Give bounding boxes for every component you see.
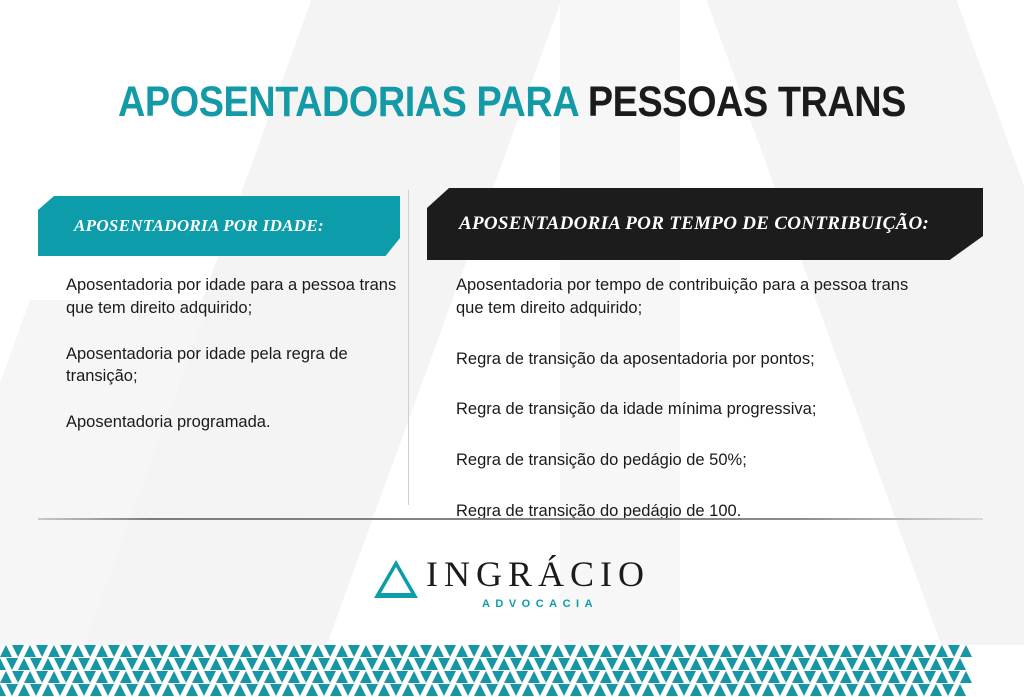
pattern-triangle-icon (324, 671, 336, 683)
pattern-triangle-icon (690, 684, 702, 696)
pattern-triangle-icon (552, 671, 564, 683)
page-title: APOSENTADORIAS PARA PESSOAS TRANS (61, 78, 962, 127)
pattern-triangle-icon (888, 671, 900, 683)
pattern-triangle-icon (48, 671, 60, 683)
pattern-triangle-icon (642, 684, 654, 696)
pattern-triangle-icon (762, 684, 774, 696)
pattern-triangle-icon (312, 671, 324, 683)
pattern-triangle-icon (300, 645, 312, 657)
pattern-triangle-icon (342, 684, 354, 696)
pattern-triangle-icon (216, 645, 228, 657)
pattern-triangle-icon (618, 684, 630, 696)
pattern-triangle-icon (858, 684, 870, 696)
pattern-triangle-icon (258, 658, 270, 670)
list-item: Aposentadoria por idade pela regra de tr… (66, 343, 411, 389)
pattern-triangle-icon (810, 684, 822, 696)
pattern-triangle-icon (204, 645, 216, 657)
column-header-idade: APOSENTADORIA POR IDADE: (38, 196, 400, 256)
pattern-triangle-icon (306, 684, 318, 696)
pattern-triangle-icon (102, 658, 114, 670)
pattern-triangle-icon (90, 684, 102, 696)
list-item: Regra de transição da aposentadoria por … (456, 348, 926, 371)
pattern-triangle-icon (102, 684, 114, 696)
pattern-triangle-icon (762, 658, 774, 670)
pattern-triangle-icon (564, 671, 576, 683)
pattern-triangle-icon (528, 645, 540, 657)
pattern-triangle-icon (204, 671, 216, 683)
pattern-triangle-icon (228, 671, 240, 683)
pattern-triangle-icon (432, 645, 444, 657)
pattern-triangle-icon (774, 684, 786, 696)
pattern-triangle-icon (948, 645, 960, 657)
pattern-triangle-icon (672, 645, 684, 657)
pattern-triangle-icon (840, 645, 852, 657)
pattern-row (0, 684, 1018, 697)
pattern-triangle-icon (138, 684, 150, 696)
pattern-triangle-icon (936, 645, 948, 657)
pattern-triangle-icon (780, 645, 792, 657)
pattern-triangle-icon (654, 658, 666, 670)
pattern-triangle-icon (270, 658, 282, 670)
pattern-triangle-icon (666, 684, 678, 696)
pattern-triangle-icon (342, 658, 354, 670)
pattern-triangle-icon (420, 645, 432, 657)
pattern-triangle-icon (66, 658, 78, 670)
pattern-triangle-icon (522, 684, 534, 696)
pattern-triangle-icon (726, 658, 738, 670)
pattern-triangle-icon (240, 671, 252, 683)
pattern-triangle-icon (438, 658, 450, 670)
pattern-triangle-icon (174, 658, 186, 670)
pattern-triangle-icon (846, 658, 858, 670)
pattern-row (0, 671, 1024, 684)
pattern-triangle-icon (36, 671, 48, 683)
pattern-triangle-icon (624, 671, 636, 683)
pattern-triangle-icon (528, 671, 540, 683)
pattern-triangle-icon (276, 671, 288, 683)
pattern-triangle-icon (114, 658, 126, 670)
pattern-triangle-icon (270, 684, 282, 696)
pattern-triangle-icon (24, 645, 36, 657)
pattern-triangle-icon (738, 684, 750, 696)
pattern-triangle-icon (714, 658, 726, 670)
pattern-triangle-icon (516, 645, 528, 657)
pattern-triangle-icon (186, 684, 198, 696)
pattern-triangle-icon (426, 658, 438, 670)
pattern-triangle-icon (582, 658, 594, 670)
pattern-triangle-icon (0, 671, 12, 683)
pattern-triangle-icon (870, 658, 882, 670)
pattern-triangle-icon (816, 671, 828, 683)
pattern-triangle-icon (54, 684, 66, 696)
pattern-triangle-icon (210, 658, 222, 670)
pattern-triangle-icon (366, 658, 378, 670)
pattern-triangle-icon (312, 645, 324, 657)
pattern-triangle-icon (186, 658, 198, 670)
pattern-triangle-icon (534, 684, 546, 696)
pattern-triangle-icon (462, 658, 474, 670)
pattern-triangle-icon (582, 684, 594, 696)
pattern-triangle-icon (912, 645, 924, 657)
pattern-triangle-icon (144, 671, 156, 683)
pattern-triangle-icon (168, 671, 180, 683)
pattern-triangle-icon (384, 671, 396, 683)
pattern-triangle-icon (354, 684, 366, 696)
pattern-triangle-icon (606, 658, 618, 670)
pattern-triangle-icon (822, 658, 834, 670)
pattern-triangle-icon (504, 645, 516, 657)
pattern-triangle-icon (768, 671, 780, 683)
footer-pattern-band (0, 645, 1024, 697)
pattern-triangle-icon (168, 645, 180, 657)
pattern-triangle-icon (702, 684, 714, 696)
pattern-triangle-icon (594, 658, 606, 670)
pattern-triangle-icon (396, 671, 408, 683)
pattern-triangle-icon (60, 671, 72, 683)
pattern-triangle-icon (708, 645, 720, 657)
pattern-triangle-icon (630, 684, 642, 696)
pattern-triangle-icon (72, 645, 84, 657)
column-header-tempo-contribuicao-label: APOSENTADORIA POR TEMPO DE CONTRIBUIÇÃO: (459, 213, 929, 235)
pattern-triangle-icon (546, 684, 558, 696)
pattern-triangle-icon (72, 671, 84, 683)
pattern-triangle-icon (648, 645, 660, 657)
pattern-triangle-icon (42, 684, 54, 696)
pattern-triangle-icon (348, 671, 360, 683)
pattern-triangle-icon (192, 671, 204, 683)
pattern-triangle-icon (954, 658, 966, 670)
pattern-triangle-icon (306, 658, 318, 670)
pattern-triangle-icon (138, 658, 150, 670)
pattern-triangle-icon (924, 671, 936, 683)
brand-name: INGRÁCIO (426, 556, 650, 594)
column-header-idade-label: APOSENTADORIA POR IDADE: (74, 216, 324, 236)
pattern-triangle-icon (906, 658, 918, 670)
pattern-triangle-icon (396, 645, 408, 657)
pattern-triangle-icon (504, 671, 516, 683)
pattern-triangle-icon (642, 658, 654, 670)
pattern-triangle-icon (696, 645, 708, 657)
pattern-triangle-icon (750, 658, 762, 670)
pattern-triangle-icon (600, 645, 612, 657)
pattern-triangle-icon (336, 671, 348, 683)
pattern-triangle-icon (870, 684, 882, 696)
brand-tagline: ADVOCACIA (430, 598, 650, 610)
pattern-triangle-icon (468, 671, 480, 683)
pattern-triangle-icon (660, 671, 672, 683)
pattern-triangle-icon (780, 671, 792, 683)
pattern-triangle-icon (852, 671, 864, 683)
list-item: Aposentadoria por idade para a pessoa tr… (66, 274, 411, 320)
pattern-triangle-icon (552, 645, 564, 657)
pattern-triangle-icon (222, 658, 234, 670)
pattern-triangle-icon (756, 671, 768, 683)
page-title-teal: APOSENTADORIAS PARA (118, 78, 588, 126)
pattern-triangle-icon (744, 671, 756, 683)
triangle-outline-icon (374, 560, 418, 598)
pattern-triangle-icon (300, 671, 312, 683)
pattern-triangle-icon (720, 645, 732, 657)
pattern-triangle-icon (594, 684, 606, 696)
pattern-triangle-icon (510, 684, 522, 696)
pattern-triangle-icon (450, 684, 462, 696)
pattern-triangle-icon (612, 645, 624, 657)
pattern-triangle-icon (210, 684, 222, 696)
pattern-triangle-icon (60, 645, 72, 657)
pattern-triangle-icon (894, 658, 906, 670)
pattern-triangle-icon (336, 645, 348, 657)
pattern-triangle-icon (96, 645, 108, 657)
pattern-triangle-icon (30, 684, 42, 696)
infographic-canvas: APOSENTADORIAS PARA PESSOAS TRANS APOSEN… (0, 0, 1024, 697)
pattern-triangle-icon (900, 645, 912, 657)
pattern-triangle-icon (708, 671, 720, 683)
pattern-triangle-icon (408, 645, 420, 657)
pattern-triangle-icon (576, 645, 588, 657)
list-item: Regra de transição da idade mínima progr… (456, 398, 926, 421)
pattern-triangle-icon (822, 684, 834, 696)
pattern-triangle-icon (492, 671, 504, 683)
pattern-triangle-icon (462, 684, 474, 696)
pattern-triangle-icon (402, 684, 414, 696)
pattern-triangle-icon (804, 671, 816, 683)
pattern-triangle-icon (948, 671, 960, 683)
pattern-triangle-icon (258, 684, 270, 696)
pattern-triangle-icon (960, 671, 972, 683)
pattern-triangle-icon (360, 645, 372, 657)
pattern-triangle-icon (786, 684, 798, 696)
column-list-tempo-contribuicao: Aposentadoria por tempo de contribuição … (456, 274, 926, 551)
pattern-triangle-icon (492, 645, 504, 657)
pattern-triangle-icon (474, 684, 486, 696)
pattern-triangle-icon (420, 671, 432, 683)
pattern-triangle-icon (384, 645, 396, 657)
pattern-triangle-icon (390, 684, 402, 696)
column-header-tempo-contribuicao: APOSENTADORIA POR TEMPO DE CONTRIBUIÇÃO: (427, 188, 983, 260)
pattern-triangle-icon (834, 684, 846, 696)
pattern-triangle-icon (606, 684, 618, 696)
list-item: Aposentadoria programada. (66, 411, 411, 434)
pattern-triangle-icon (672, 671, 684, 683)
pattern-triangle-icon (684, 671, 696, 683)
pattern-triangle-icon (876, 671, 888, 683)
pattern-triangle-icon (750, 684, 762, 696)
pattern-triangle-icon (282, 684, 294, 696)
pattern-triangle-icon (372, 671, 384, 683)
pattern-triangle-icon (636, 645, 648, 657)
pattern-triangle-icon (810, 658, 822, 670)
pattern-triangle-icon (858, 658, 870, 670)
pattern-triangle-icon (42, 658, 54, 670)
pattern-triangle-icon (378, 658, 390, 670)
pattern-triangle-icon (738, 658, 750, 670)
pattern-triangle-icon (960, 645, 972, 657)
pattern-triangle-icon (264, 645, 276, 657)
pattern-triangle-icon (246, 684, 258, 696)
pattern-triangle-icon (522, 658, 534, 670)
pattern-triangle-icon (912, 671, 924, 683)
pattern-triangle-icon (852, 645, 864, 657)
pattern-triangle-icon (684, 645, 696, 657)
pattern-triangle-icon (366, 684, 378, 696)
pattern-triangle-icon (846, 684, 858, 696)
list-item: Aposentadoria por tempo de contribuição … (456, 274, 926, 320)
pattern-triangle-icon (24, 671, 36, 683)
pattern-triangle-icon (726, 684, 738, 696)
pattern-triangle-icon (696, 671, 708, 683)
pattern-triangle-icon (84, 645, 96, 657)
pattern-triangle-icon (84, 671, 96, 683)
pattern-triangle-icon (900, 671, 912, 683)
pattern-triangle-icon (774, 658, 786, 670)
pattern-triangle-icon (558, 658, 570, 670)
pattern-triangle-icon (66, 684, 78, 696)
pattern-triangle-icon (12, 645, 24, 657)
pattern-triangle-icon (882, 658, 894, 670)
pattern-triangle-icon (18, 684, 30, 696)
pattern-triangle-icon (294, 684, 306, 696)
pattern-triangle-icon (228, 645, 240, 657)
pattern-triangle-icon (666, 658, 678, 670)
pattern-triangle-icon (402, 658, 414, 670)
pattern-triangle-icon (732, 645, 744, 657)
footer-divider (38, 518, 983, 520)
pattern-triangle-icon (756, 645, 768, 657)
pattern-triangle-icon (888, 645, 900, 657)
pattern-triangle-icon (558, 684, 570, 696)
pattern-triangle-icon (510, 658, 522, 670)
pattern-triangle-icon (942, 684, 954, 696)
pattern-triangle-icon (480, 671, 492, 683)
pattern-triangle-icon (882, 684, 894, 696)
pattern-triangle-icon (414, 684, 426, 696)
pattern-triangle-icon (96, 671, 108, 683)
pattern-triangle-icon (540, 645, 552, 657)
pattern-triangle-icon (702, 658, 714, 670)
pattern-triangle-icon (132, 671, 144, 683)
pattern-triangle-icon (276, 645, 288, 657)
pattern-triangle-icon (162, 684, 174, 696)
pattern-triangle-icon (114, 684, 126, 696)
pattern-triangle-icon (540, 671, 552, 683)
pattern-triangle-icon (918, 658, 930, 670)
pattern-triangle-icon (438, 684, 450, 696)
pattern-triangle-icon (390, 658, 402, 670)
pattern-triangle-icon (894, 684, 906, 696)
pattern-triangle-icon (78, 684, 90, 696)
pattern-triangle-icon (564, 645, 576, 657)
pattern-triangle-icon (954, 684, 966, 696)
pattern-triangle-icon (792, 645, 804, 657)
pattern-triangle-icon (816, 645, 828, 657)
pattern-triangle-icon (288, 671, 300, 683)
pattern-triangle-icon (252, 645, 264, 657)
pattern-triangle-icon (486, 684, 498, 696)
pattern-triangle-icon (282, 658, 294, 670)
pattern-triangle-icon (78, 658, 90, 670)
pattern-triangle-icon (798, 658, 810, 670)
pattern-triangle-icon (108, 645, 120, 657)
pattern-triangle-icon (570, 684, 582, 696)
pattern-triangle-icon (600, 671, 612, 683)
pattern-triangle-icon (240, 645, 252, 657)
pattern-triangle-icon (624, 645, 636, 657)
page-title-dark: PESSOAS TRANS (588, 78, 906, 126)
pattern-triangle-icon (48, 645, 60, 657)
pattern-triangle-icon (588, 671, 600, 683)
pattern-triangle-icon (570, 658, 582, 670)
pattern-triangle-icon (192, 645, 204, 657)
pattern-triangle-icon (6, 658, 18, 670)
pattern-triangle-icon (906, 684, 918, 696)
pattern-triangle-icon (804, 645, 816, 657)
pattern-triangle-icon (474, 658, 486, 670)
pattern-row (0, 645, 1024, 658)
pattern-triangle-icon (198, 684, 210, 696)
pattern-triangle-icon (150, 658, 162, 670)
pattern-triangle-icon (444, 645, 456, 657)
pattern-triangle-icon (36, 645, 48, 657)
pattern-triangle-icon (378, 684, 390, 696)
pattern-triangle-icon (660, 645, 672, 657)
pattern-triangle-icon (234, 658, 246, 670)
pattern-triangle-icon (0, 645, 12, 657)
list-item: Regra de transição do pedágio de 50%; (456, 449, 926, 472)
pattern-triangle-icon (648, 671, 660, 683)
pattern-triangle-icon (246, 658, 258, 670)
pattern-triangle-icon (126, 658, 138, 670)
pattern-triangle-icon (90, 658, 102, 670)
pattern-triangle-icon (456, 671, 468, 683)
pattern-triangle-icon (732, 671, 744, 683)
pattern-triangle-icon (864, 671, 876, 683)
pattern-triangle-icon (720, 671, 732, 683)
pattern-triangle-icon (120, 671, 132, 683)
pattern-triangle-icon (630, 658, 642, 670)
pattern-triangle-icon (108, 671, 120, 683)
pattern-triangle-icon (918, 684, 930, 696)
pattern-triangle-icon (12, 671, 24, 683)
pattern-triangle-icon (450, 658, 462, 670)
pattern-triangle-icon (828, 671, 840, 683)
pattern-triangle-icon (744, 645, 756, 657)
pattern-triangle-icon (930, 684, 942, 696)
pattern-triangle-icon (6, 684, 18, 696)
pattern-triangle-icon (654, 684, 666, 696)
pattern-triangle-icon (330, 684, 342, 696)
pattern-triangle-icon (318, 658, 330, 670)
pattern-triangle-icon (486, 658, 498, 670)
pattern-triangle-icon (456, 645, 468, 657)
pattern-triangle-icon (834, 658, 846, 670)
pattern-triangle-icon (924, 645, 936, 657)
pattern-triangle-icon (480, 645, 492, 657)
pattern-triangle-icon (174, 684, 186, 696)
pattern-triangle-icon (360, 671, 372, 683)
pattern-triangle-icon (318, 684, 330, 696)
brand-logo: INGRÁCIO ADVOCACIA (0, 556, 1024, 610)
pattern-triangle-icon (636, 671, 648, 683)
pattern-triangle-icon (618, 658, 630, 670)
pattern-triangle-icon (612, 671, 624, 683)
pattern-triangle-icon (234, 684, 246, 696)
pattern-triangle-icon (144, 645, 156, 657)
pattern-triangle-icon (426, 684, 438, 696)
pattern-triangle-icon (444, 671, 456, 683)
pattern-triangle-icon (714, 684, 726, 696)
pattern-triangle-icon (18, 658, 30, 670)
pattern-triangle-icon (180, 671, 192, 683)
